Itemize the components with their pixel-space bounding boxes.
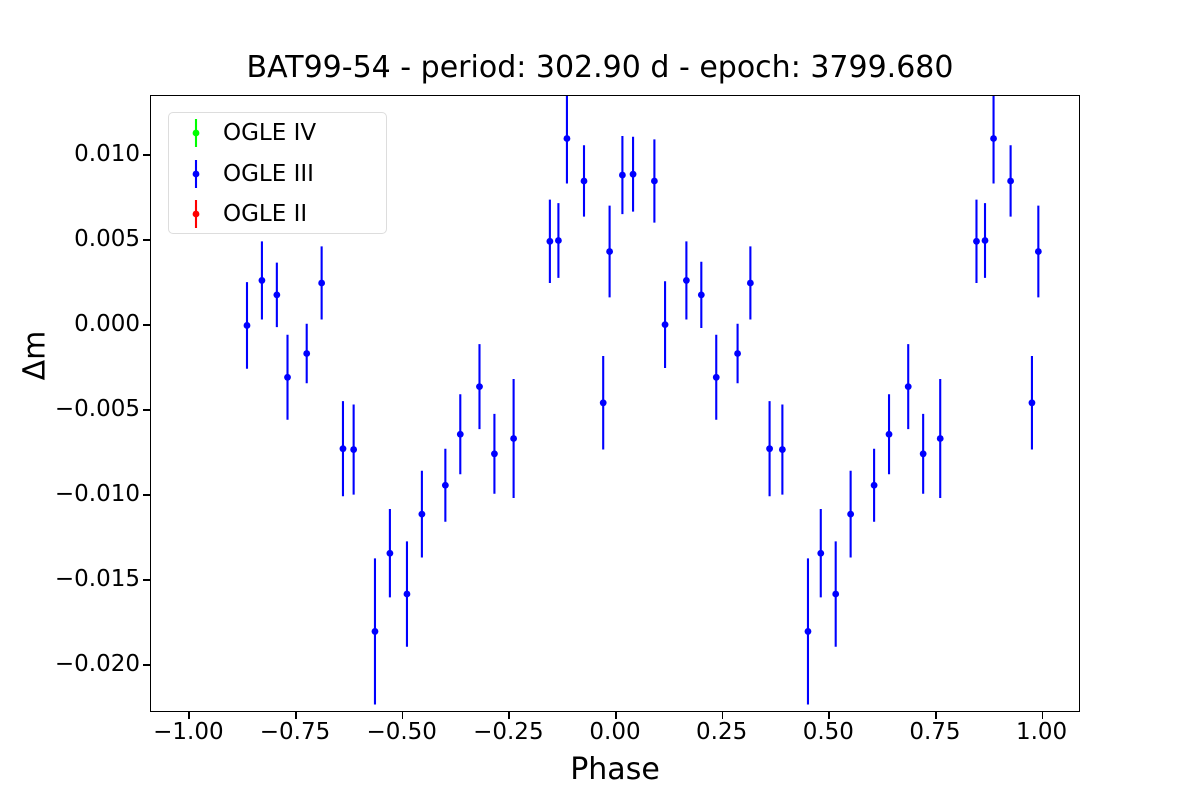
x-tick-label: 0.75	[875, 719, 995, 745]
x-tick-label: −0.25	[448, 719, 568, 745]
x-tick-mark	[188, 712, 190, 719]
data-point	[546, 238, 553, 245]
y-tick-label: 0.010	[0, 141, 140, 167]
data-point	[683, 277, 690, 284]
y-tick-mark	[143, 239, 150, 241]
data-point	[1007, 178, 1014, 185]
data-point	[630, 171, 637, 178]
x-tick-mark	[828, 712, 830, 719]
x-tick-mark	[508, 712, 510, 719]
data-point	[698, 291, 705, 298]
y-tick-mark	[143, 494, 150, 496]
figure-canvas: BAT99-54 - period: 302.90 d - epoch: 379…	[0, 0, 1200, 800]
data-point	[606, 248, 613, 255]
data-point	[491, 450, 498, 457]
data-point	[662, 321, 669, 328]
x-tick-label: 1.00	[982, 719, 1102, 745]
data-point	[600, 399, 607, 406]
x-tick-mark	[935, 712, 937, 719]
data-point	[920, 450, 927, 457]
x-tick-label: −0.75	[235, 719, 355, 745]
x-axis-label: Phase	[150, 752, 1080, 787]
x-tick-label: 0.50	[768, 719, 888, 745]
legend-item-ogle-iii[interactable]: OGLE III	[169, 154, 386, 195]
data-point	[886, 431, 893, 438]
data-point	[457, 431, 464, 438]
data-point	[581, 178, 588, 185]
y-tick-mark	[143, 324, 150, 326]
data-point	[273, 291, 280, 298]
data-point	[905, 383, 912, 390]
x-tick-mark	[722, 712, 724, 719]
y-tick-mark	[143, 154, 150, 156]
data-point	[990, 135, 997, 142]
data-point	[817, 550, 824, 557]
data-point	[340, 445, 347, 452]
data-point	[476, 383, 483, 390]
data-point	[350, 446, 357, 453]
errorbar-icon	[169, 113, 223, 153]
data-point	[418, 511, 425, 518]
data-point	[259, 277, 266, 284]
y-tick-label: 0.005	[0, 226, 140, 252]
y-tick-mark	[143, 664, 150, 666]
errorbar-icon	[169, 154, 223, 194]
legend-label: OGLE II	[223, 201, 307, 227]
y-tick-mark	[143, 409, 150, 411]
data-point	[555, 237, 562, 244]
y-tick-label: −0.015	[0, 566, 140, 592]
x-tick-mark	[615, 712, 617, 719]
x-tick-label: −1.00	[128, 719, 248, 745]
y-tick-label: 0.000	[0, 311, 140, 337]
x-tick-mark	[295, 712, 297, 719]
chart-title: BAT99-54 - period: 302.90 d - epoch: 379…	[0, 50, 1200, 85]
y-tick-label: −0.020	[0, 651, 140, 677]
data-point	[734, 350, 741, 357]
legend-item-ogle-ii[interactable]: OGLE II	[169, 194, 386, 235]
data-point	[847, 511, 854, 518]
data-point	[747, 280, 754, 287]
data-point	[832, 591, 839, 598]
data-point	[982, 237, 989, 244]
data-point	[779, 446, 786, 453]
x-tick-mark	[1042, 712, 1044, 719]
data-point	[244, 322, 251, 329]
data-point	[651, 178, 658, 185]
data-point	[937, 435, 944, 442]
data-point	[387, 550, 394, 557]
data-point	[564, 135, 571, 142]
data-point	[1035, 248, 1042, 255]
chart-legend: OGLE IVOGLE IIIOGLE II	[168, 112, 387, 234]
legend-item-ogle-iv[interactable]: OGLE IV	[169, 113, 386, 154]
data-point	[510, 435, 517, 442]
data-point	[372, 628, 379, 635]
data-point	[805, 628, 812, 635]
x-tick-label: 0.25	[662, 719, 782, 745]
y-tick-label: −0.010	[0, 481, 140, 507]
y-tick-mark	[143, 579, 150, 581]
data-point	[303, 350, 310, 357]
data-point	[713, 374, 720, 381]
y-tick-label: −0.005	[0, 396, 140, 422]
data-point	[404, 591, 411, 598]
x-tick-label: −0.50	[342, 719, 462, 745]
data-point	[318, 280, 325, 287]
x-tick-label: 0.00	[555, 719, 675, 745]
data-point	[871, 482, 878, 489]
data-point	[619, 172, 626, 179]
data-point	[284, 374, 291, 381]
errorbar-icon	[169, 194, 223, 234]
legend-label: OGLE III	[223, 161, 314, 187]
data-point	[1029, 399, 1036, 406]
legend-label: OGLE IV	[223, 120, 316, 146]
data-point	[766, 445, 773, 452]
data-point	[973, 238, 980, 245]
x-tick-mark	[402, 712, 404, 719]
data-point	[442, 482, 449, 489]
